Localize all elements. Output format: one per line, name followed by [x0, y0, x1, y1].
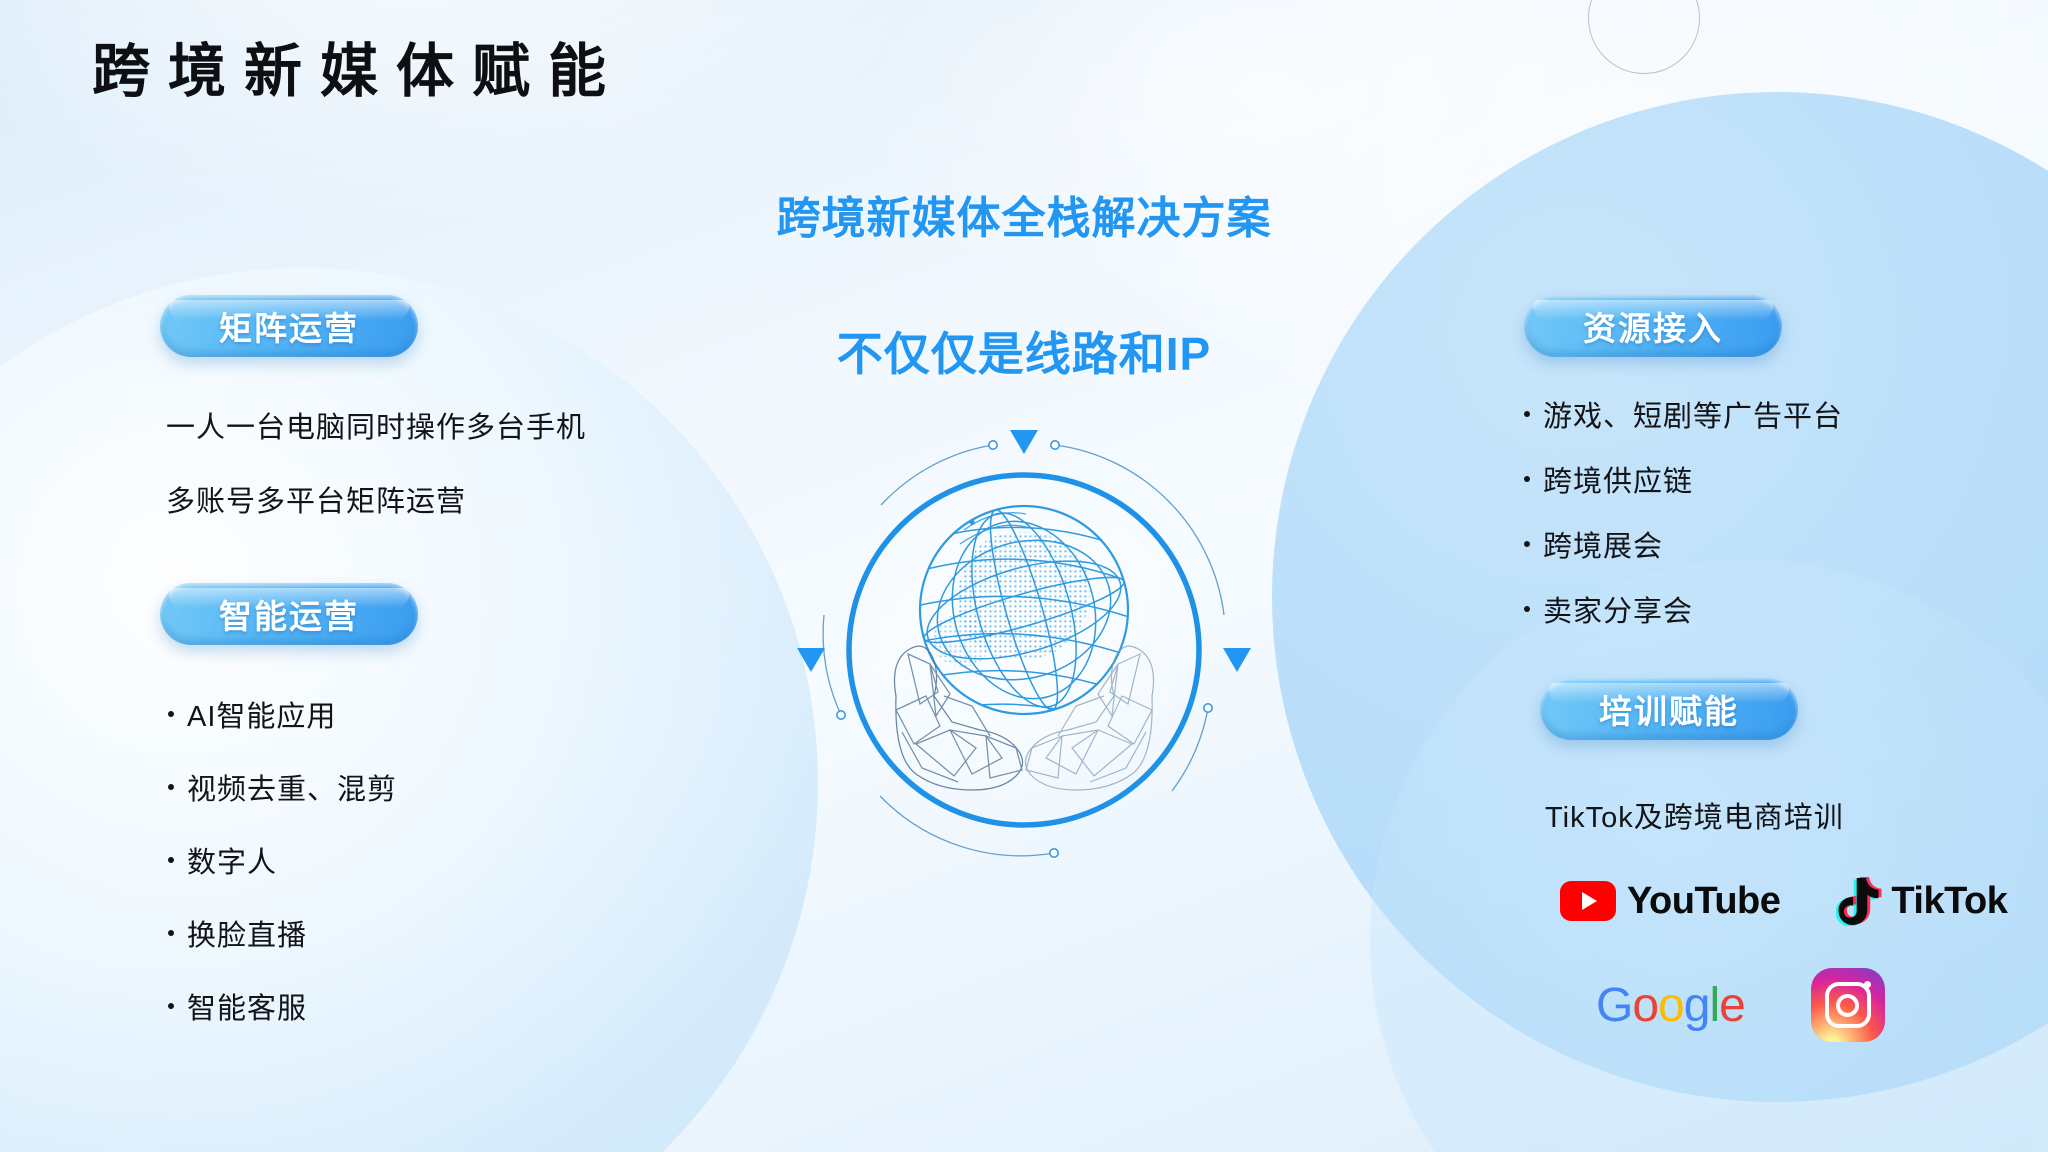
pill-label: 智能运营 [219, 590, 359, 638]
logo-row-top: YouTube TikTok [1560, 876, 2007, 926]
right-bullet-2: 跨境供应链 [1524, 458, 1693, 500]
pill-matrix-operations[interactable]: 矩阵运营 [160, 295, 418, 357]
bullet-dot-icon [1524, 541, 1530, 547]
globe-in-hands-illustration [784, 410, 1264, 890]
left-text-line-2: 多账号多平台矩阵运营 [166, 478, 466, 520]
bullet-text: 跨境展会 [1543, 523, 1663, 565]
bullet-text: 视频去重、混剪 [187, 766, 397, 808]
bullet-dot-icon [1524, 411, 1530, 417]
tiktok-label: TikTok [1891, 880, 2007, 923]
left-bullet-2: 视频去重、混剪 [168, 766, 397, 808]
headline-primary: 跨境新媒体全栈解决方案 [0, 182, 2048, 246]
tiktok-note-icon [1836, 876, 1882, 926]
bullet-text: 数字人 [187, 839, 277, 881]
bullet-dot-icon [168, 1003, 174, 1009]
youtube-logo[interactable]: YouTube [1560, 880, 1780, 923]
page-title: 跨境新媒体赋能 [92, 40, 624, 104]
right-bullet-4: 卖家分享会 [1524, 588, 1693, 630]
instagram-camera-icon [1825, 982, 1871, 1028]
left-text-line-1: 一人一台电脑同时操作多台手机 [166, 404, 586, 446]
pill-training-empowerment[interactable]: 培训赋能 [1540, 678, 1798, 740]
bullet-dot-icon [168, 857, 174, 863]
left-bullet-3: 数字人 [168, 839, 277, 881]
left-bullet-1: AI智能应用 [168, 693, 336, 735]
tiktok-logo[interactable]: TikTok [1836, 876, 2007, 926]
pill-label: 资源接入 [1583, 302, 1723, 350]
pill-smart-operations[interactable]: 智能运营 [160, 583, 418, 645]
bullet-text: AI智能应用 [187, 693, 336, 735]
bullet-text: 智能客服 [187, 985, 307, 1027]
pill-label: 矩阵运营 [219, 302, 359, 350]
right-bullet-3: 跨境展会 [1524, 523, 1663, 565]
google-logo[interactable]: Google [1596, 978, 1745, 1033]
left-bullet-4: 换脸直播 [168, 912, 307, 954]
bullet-dot-icon [168, 784, 174, 790]
bullet-dot-icon [1524, 606, 1530, 612]
bullet-dot-icon [168, 930, 174, 936]
bullet-text: 卖家分享会 [1543, 588, 1693, 630]
instagram-logo[interactable] [1811, 968, 1885, 1042]
bullet-text: 跨境供应链 [1543, 458, 1693, 500]
left-bullet-5: 智能客服 [168, 985, 307, 1027]
bullet-dot-icon [1524, 476, 1530, 482]
bullet-dot-icon [168, 711, 174, 717]
pill-label: 培训赋能 [1599, 685, 1739, 733]
right-text-line-1: TikTok及跨境电商培训 [1545, 794, 1844, 836]
right-bullet-1: 游戏、短剧等广告平台 [1524, 393, 1843, 435]
bullet-text: 换脸直播 [187, 912, 307, 954]
pill-resource-access[interactable]: 资源接入 [1524, 295, 1782, 357]
instagram-lens-dot [1864, 981, 1871, 988]
bullet-text: 游戏、短剧等广告平台 [1543, 393, 1843, 435]
youtube-play-icon [1560, 881, 1616, 921]
youtube-label: YouTube [1627, 880, 1780, 923]
logo-row-bottom: Google [1596, 968, 1885, 1042]
